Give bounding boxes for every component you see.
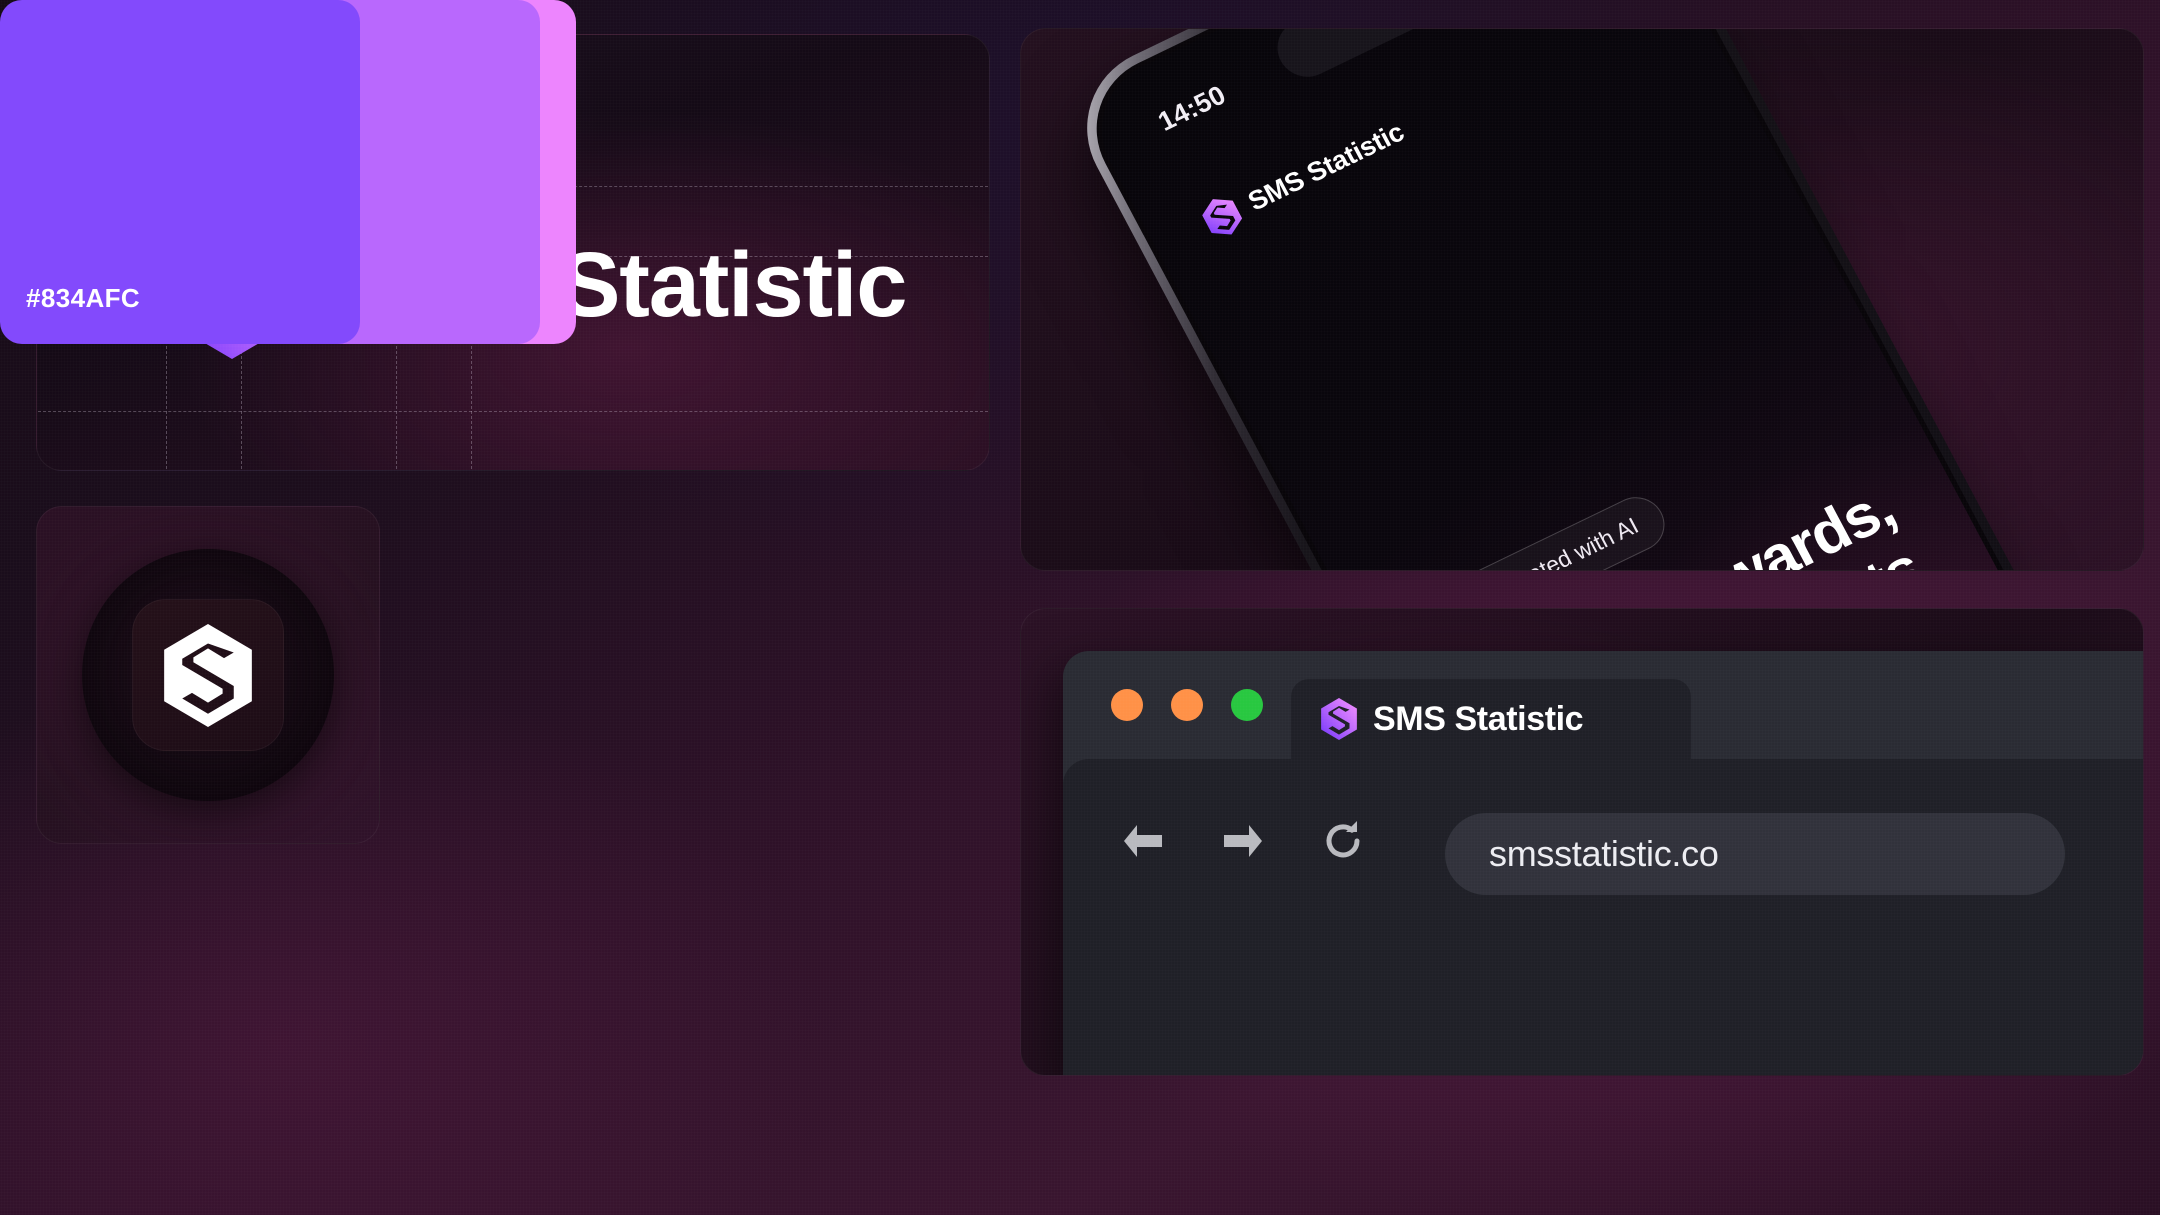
browser-mockup-card: SMS Statistic [1020,608,2144,1076]
browser-tab-strip: SMS Statistic [1063,651,2144,759]
phone-hero-section: Integrated with AI Unlock Rewards, Unlea… [1358,370,2098,571]
grid-line-horizontal [36,411,990,412]
browser-toolbar: smsstatistic.co [1063,759,2144,1076]
back-arrow-glyph [1118,819,1168,863]
maximize-button-dot[interactable] [1231,689,1263,721]
browser-window: SMS Statistic [1063,651,2144,1076]
status-bar-time: 14:50 [1153,80,1231,138]
sms-statistic-hexagon-s-mark-white [164,624,252,727]
phone-mockup-card: 14:50 [1020,28,2144,571]
minimize-button-dot[interactable] [1171,689,1203,721]
reload-icon[interactable] [1315,813,1371,869]
phone-bezel: 14:50 [1070,28,2144,571]
arrow-right-icon[interactable] [1215,813,1271,869]
browser-tab-title: SMS Statistic [1373,700,1583,739]
browser-tab[interactable]: SMS Statistic [1291,679,1691,759]
phone-screen: 14:50 [1077,28,2144,571]
address-bar-url: smsstatistic.co [1489,833,1719,875]
brand-board-canvas: SMS Statistic #834AFC #B968FD #ED85FE [0,0,2160,1215]
sms-statistic-hexagon-s-mark [1197,192,1246,242]
arrow-left-icon[interactable] [1115,813,1171,869]
app-icon-card [36,506,380,844]
ai-badge-label: Integrated with AI [1470,512,1643,571]
dynamic-island [1267,28,1471,86]
ai-badge: Integrated with AI [1407,488,1674,571]
sms-statistic-hexagon-s-mark [1321,698,1357,740]
app-icon-tile[interactable] [132,599,284,751]
reload-glyph [1319,817,1367,865]
phone-brand-row: SMS Statistic [1197,112,1411,242]
phone-brand-label: SMS Statistic [1243,116,1409,217]
color-swatch[interactable]: #834AFC [0,0,360,344]
phone-device: 14:50 [1057,28,2144,571]
traffic-lights [1111,689,1263,721]
forward-arrow-glyph [1218,819,1268,863]
swatch-hex-label: #834AFC [0,283,140,344]
address-bar[interactable]: smsstatistic.co [1445,813,2065,895]
color-palette-card: #834AFC #B968FD #ED85FE [0,0,576,344]
close-button-dot[interactable] [1111,689,1143,721]
